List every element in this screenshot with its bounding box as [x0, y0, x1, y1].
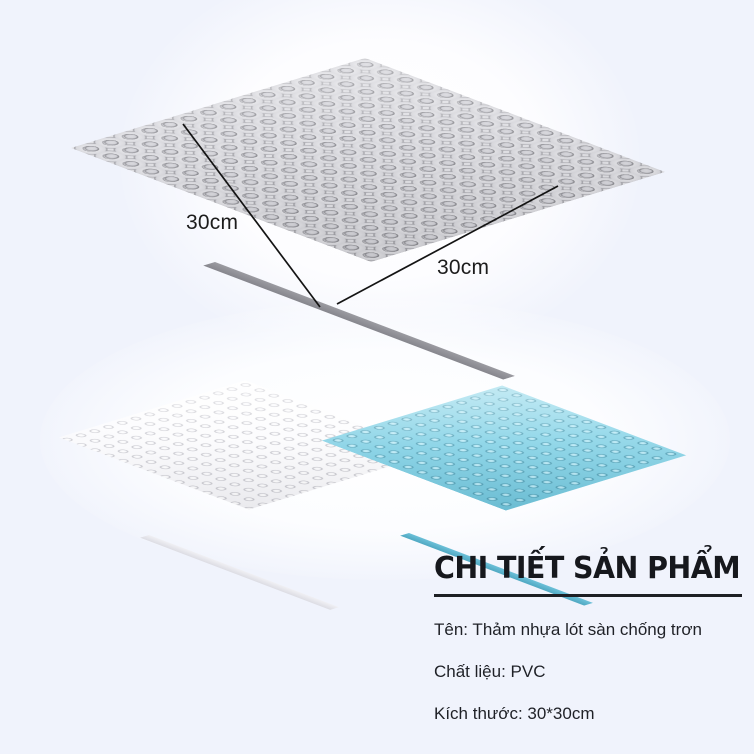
- product-photo-white-tile: [126, 356, 362, 532]
- white-tile-edge: [140, 535, 339, 610]
- gray-tile-highlight: [71, 58, 665, 262]
- spec-material: Chất liệu: PVC: [434, 661, 744, 683]
- product-detail-heading: CHI TIẾT SẢN PHẨM: [434, 552, 729, 586]
- spec-product-name: Tên: Thảm nhựa lót sàn chống trơn: [434, 619, 744, 641]
- blue-tile-highlight: [322, 385, 686, 510]
- gray-tile-body: [71, 58, 665, 262]
- gray-tile-surface: [71, 58, 665, 262]
- blue-tile-body: [322, 385, 686, 510]
- heading-divider: [434, 594, 742, 597]
- dimension-label-right: 30cm: [437, 256, 489, 280]
- product-detail-section: CHI TIẾT SẢN PHẨM Tên: Thảm nhựa lót sàn…: [434, 552, 744, 725]
- product-photo-blue-tile: [388, 360, 610, 532]
- blue-tile-surface: [322, 385, 686, 510]
- dimension-label-left: 30cm: [186, 211, 238, 235]
- product-detail-image: 30cm 30cm CHI TIẾT SẢN PHẨM Tên: Thảm nh…: [0, 0, 754, 754]
- spec-size: Kích thước: 30*30cm: [434, 703, 744, 725]
